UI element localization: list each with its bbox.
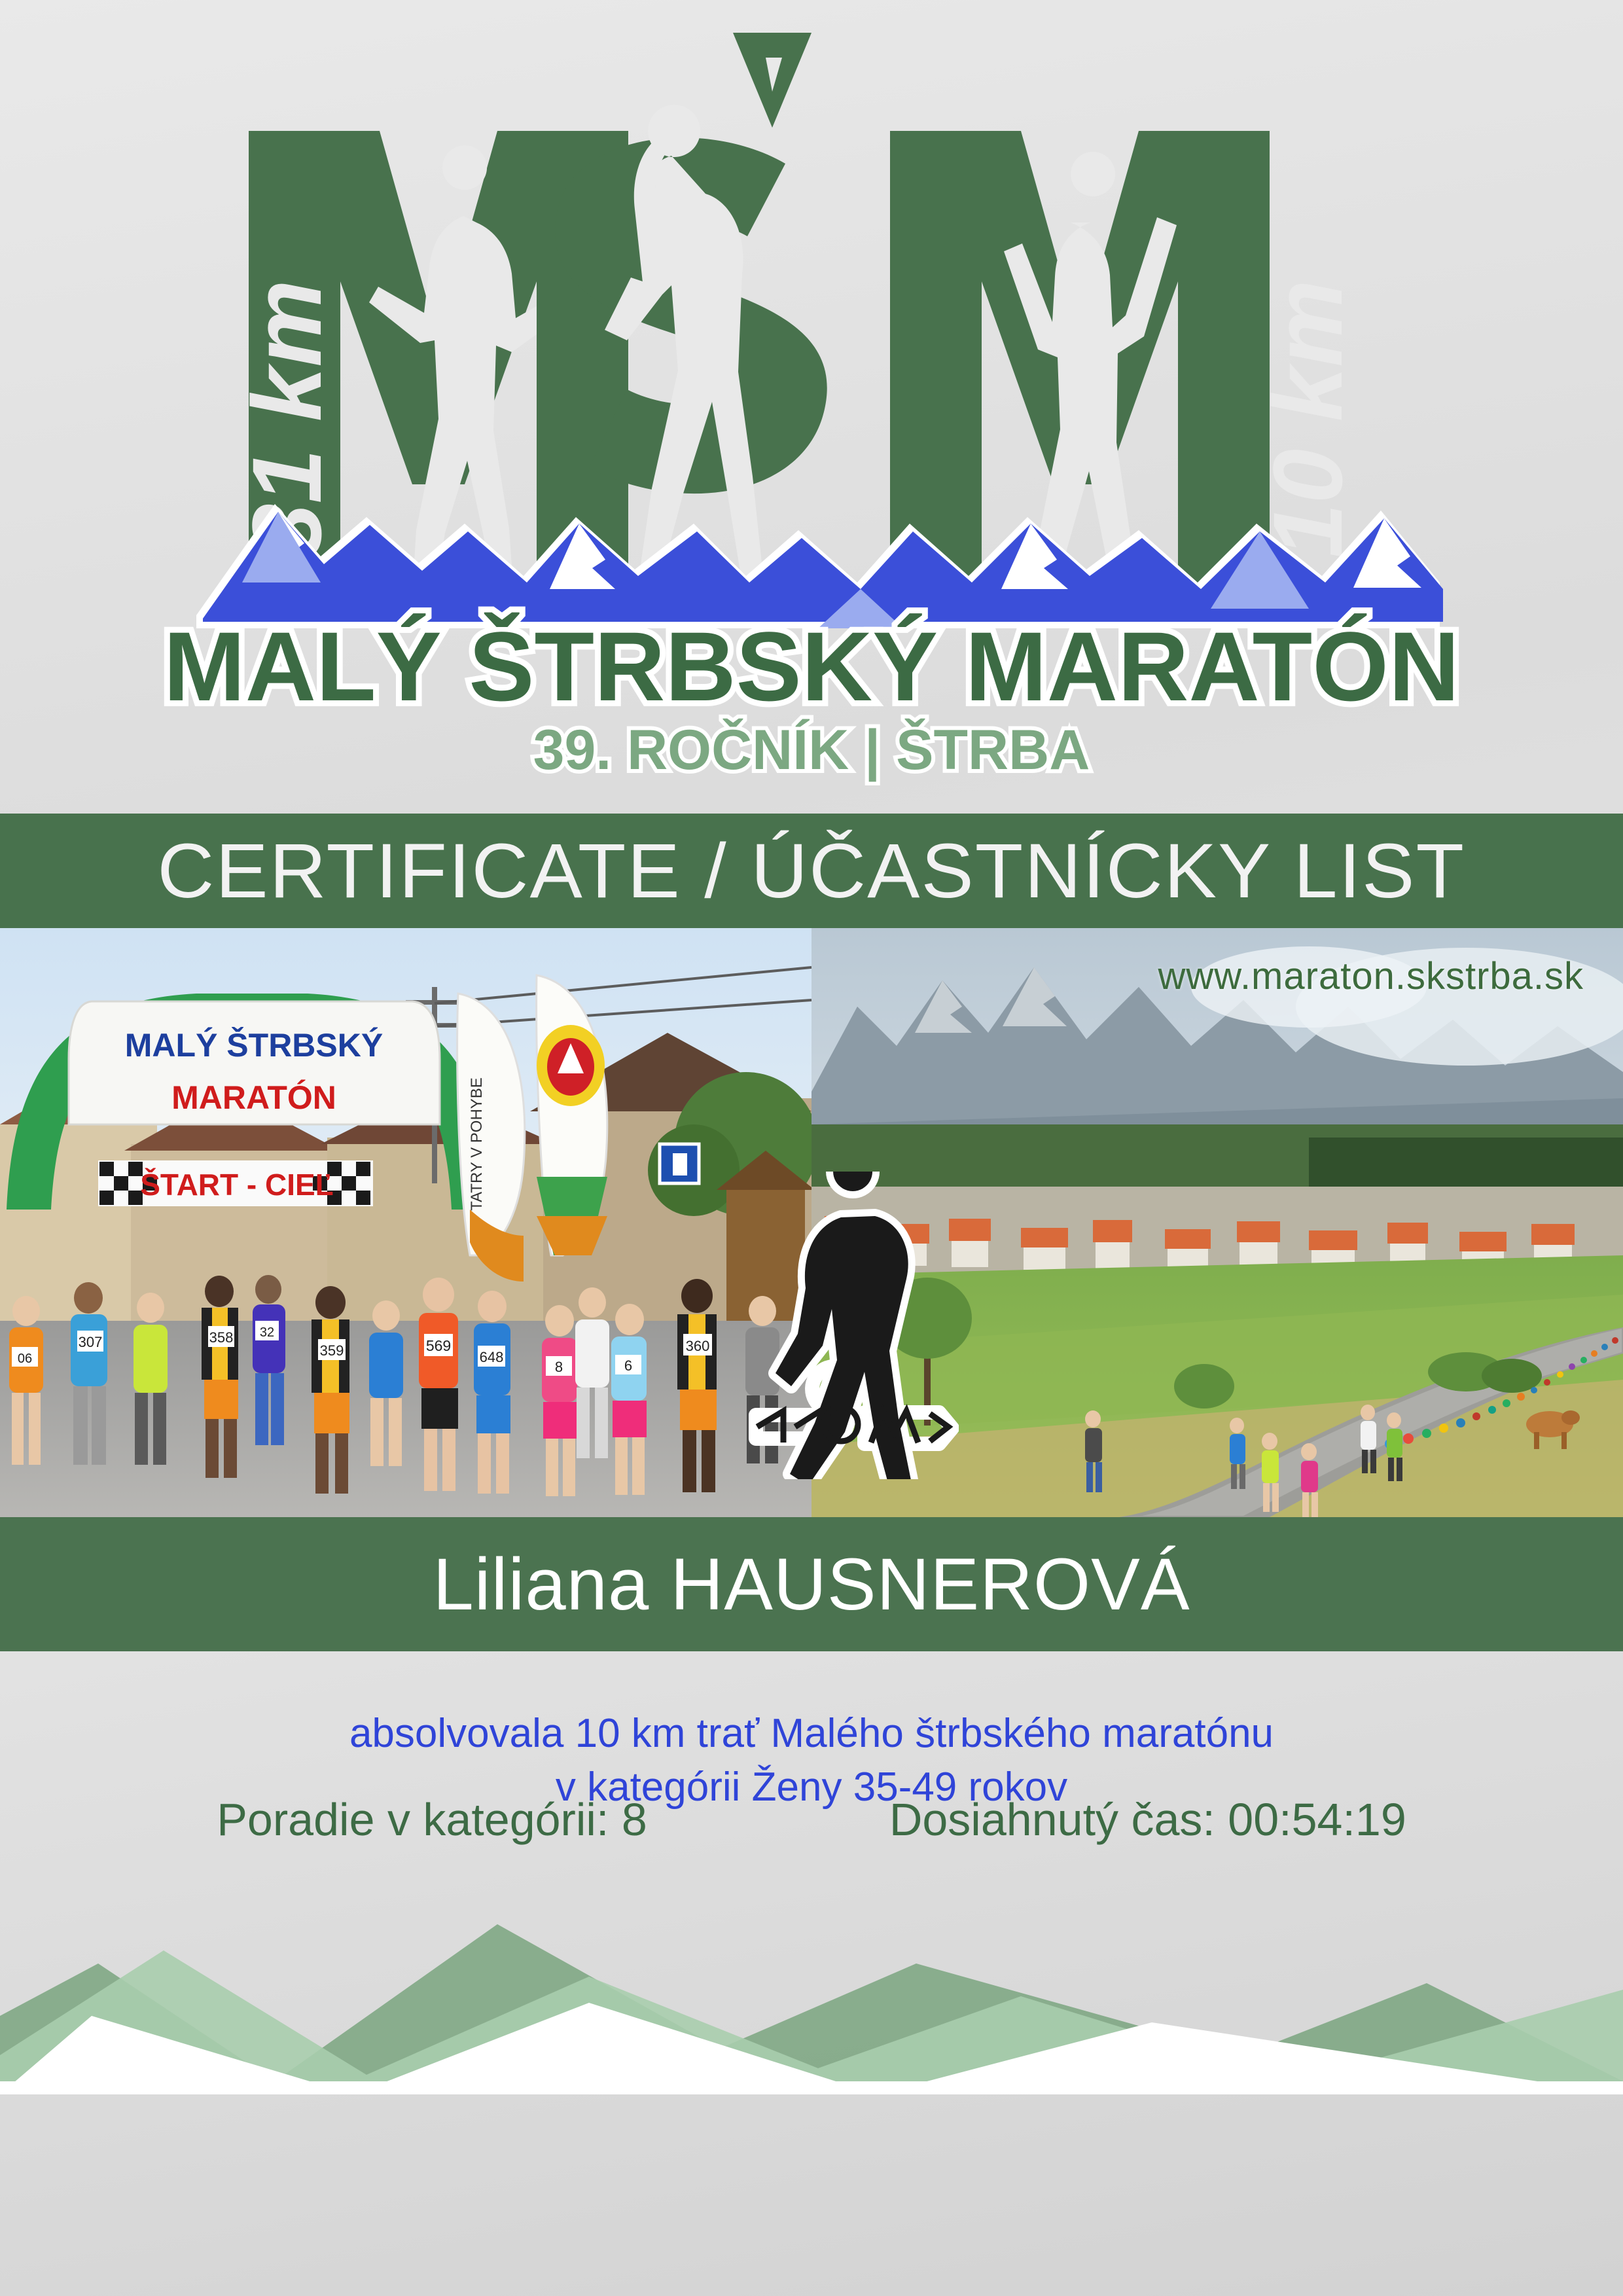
distance-left-label: 31 km: [232, 279, 342, 558]
svg-text:06: 06: [18, 1352, 32, 1366]
arch-line-1: MALÝ ŠTRBSKÝ: [125, 1026, 383, 1064]
rank-in-category: Poradie v kategórii: 8: [217, 1793, 647, 1846]
certificate-banner: CERTIFICATE / ÚČASTNÍCKY LIST: [0, 814, 1623, 928]
race-start-photo: MALÝ ŠTRBSKÝ MARATÓN ŠTART - CIEĽ: [0, 928, 811, 1517]
certificate-title: CERTIFICATE / ÚČASTNÍCKY LIST: [158, 827, 1466, 916]
svg-text:32: 32: [260, 1325, 274, 1340]
arch-line-2: MARATÓN: [171, 1079, 336, 1116]
svg-text:8: 8: [555, 1359, 563, 1375]
website-url[interactable]: www.maraton.skstrba.sk: [1158, 954, 1584, 998]
finish-time: Dosiahnutý čas: 00:54:19: [889, 1793, 1406, 1846]
distance-right-label: 10 km: [1253, 279, 1363, 558]
header-logo-area: 31 km 10 km: [0, 0, 1623, 814]
svg-text:358: 358: [209, 1329, 234, 1346]
svg-text:307: 307: [79, 1334, 103, 1350]
participant-name: Liliana HAUSNEROVÁ: [433, 1542, 1190, 1626]
svg-text:10 km: 10 km: [1253, 279, 1363, 558]
event-subtitle: 39. ROČNÍK | ŠTRBA: [533, 719, 1090, 781]
svg-text:6: 6: [624, 1357, 632, 1374]
svg-text:648: 648: [480, 1349, 504, 1365]
participant-name-banner: Liliana HAUSNEROVÁ: [0, 1517, 1623, 1651]
race-start-illustration: MALÝ ŠTRBSKÝ MARATÓN ŠTART - CIEĽ: [0, 928, 811, 1517]
detail-line-1: absolvovala 10 km trať Malého štrbského …: [0, 1651, 1623, 1761]
svg-text:569: 569: [426, 1337, 451, 1354]
svg-text:359: 359: [320, 1342, 344, 1359]
event-title: MALÝ ŠTRBSKÝ MARATÓN: [164, 611, 1459, 721]
msm-logo: 31 km 10 km: [157, 0, 1466, 785]
results-row: Poradie v kategórii: 8 Dosiahnutý čas: 0…: [0, 1793, 1623, 1846]
svg-text:360: 360: [686, 1338, 710, 1354]
msm-runner-emblem: [743, 1172, 959, 1479]
participant-details: absolvovala 10 km trať Malého štrbského …: [0, 1651, 1623, 1887]
certificate-page: 31 km 10 km: [0, 0, 1623, 2296]
flag-text: TATRY V POHYBE: [468, 1077, 486, 1211]
footer: V Štrbe 10. júla 2016 Obec Štrba: [0, 2003, 1623, 2296]
svg-text:31 km: 31 km: [232, 279, 342, 558]
arch-line-3: ŠTART - CIEĽ: [140, 1168, 334, 1202]
